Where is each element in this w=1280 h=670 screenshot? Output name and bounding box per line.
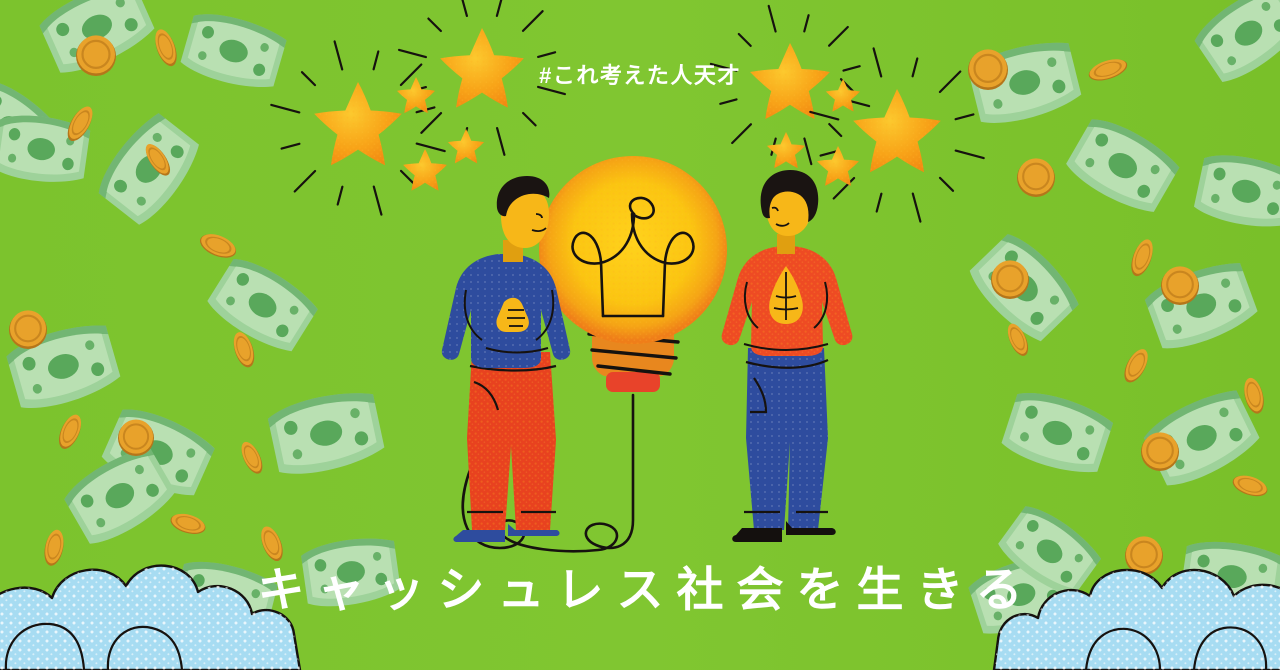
man-shoe-left <box>453 530 505 542</box>
headline-title: キャッシュレス社会を生きる <box>0 565 1280 616</box>
figure-woman <box>722 170 853 542</box>
sparkle-star <box>448 129 484 163</box>
banner-canvas: #これ考えた人天才 キャッシュレス社会を生きる <box>0 0 1280 670</box>
woman-shoe-left <box>732 528 782 542</box>
sparkle-star <box>767 132 805 168</box>
bulb-contact-tip <box>606 372 660 392</box>
hashtag-label: #これ考えた人天才 <box>0 58 1280 90</box>
sparkle-star <box>403 149 447 191</box>
